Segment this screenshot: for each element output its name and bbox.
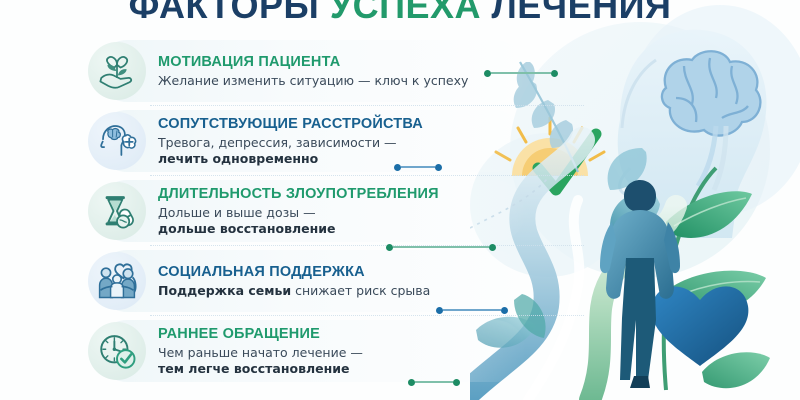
factor-description: Тревога, депрессия, зависимости —лечить … xyxy=(158,135,423,166)
connector-segment xyxy=(415,381,453,383)
connector-segment xyxy=(491,72,551,74)
connector-dot xyxy=(386,244,393,251)
row-separator xyxy=(150,105,584,107)
hourglass-pills-icon xyxy=(88,182,146,240)
factor-row-early-treatment[interactable]: РАННЕЕ ОБРАЩЕНИЕ Чем раньше начато лечен… xyxy=(84,316,514,386)
factor-description: Дольше и выше дозы —дольше восстановлени… xyxy=(158,205,439,236)
factor-row-duration[interactable]: ДЛИТЕЛЬНОСТЬ ЗЛОУПОТРЕБЛЕНИЯ Дольше и вы… xyxy=(84,176,514,246)
factor-description: Чем раньше начато лечение —тем легче вос… xyxy=(158,345,363,376)
connector-dot xyxy=(435,164,442,171)
row-separator xyxy=(150,315,584,317)
family-heart-icon xyxy=(88,252,146,310)
factor-row-motivation[interactable]: МОТИВАЦИЯ ПАЦИЕНТА Желание изменить ситу… xyxy=(84,36,514,106)
factor-texts: СОЦИАЛЬНАЯ ПОДДЕРЖКА Поддержка семьи сни… xyxy=(158,264,430,299)
head-brain-plus-icon xyxy=(88,112,146,170)
title-part-uspeha: УСПЕХА xyxy=(330,0,492,26)
factor-texts: МОТИВАЦИЯ ПАЦИЕНТА Желание изменить ситу… xyxy=(158,54,468,89)
row-separator xyxy=(150,175,584,177)
factor-heading: СОПУТСТВУЮЩИЕ РАССТРОЙСТВА xyxy=(158,116,423,133)
connector-dot xyxy=(436,307,443,314)
connector-line-5 xyxy=(408,377,460,387)
hand-plant-heart-icon xyxy=(88,42,146,100)
factor-texts: ДЛИТЕЛЬНОСТЬ ЗЛОУПОТРЕБЛЕНИЯ Дольше и вы… xyxy=(158,186,439,236)
factor-description: Поддержка семьи снижает риск срыва xyxy=(158,283,430,299)
connector-dot xyxy=(453,379,460,386)
connector-dot xyxy=(484,70,491,77)
title-part-faktory: ФАКТОРЫ xyxy=(129,0,330,26)
connector-line-2 xyxy=(394,162,442,172)
row-separator xyxy=(150,245,584,247)
infographic-canvas: ФАКТОРЫ УСПЕХА ЛЕЧЕНИЯ xyxy=(0,0,800,400)
connector-segment xyxy=(401,166,435,168)
connector-segment xyxy=(443,309,501,311)
connector-line-1 xyxy=(484,68,558,78)
factor-heading: МОТИВАЦИЯ ПАЦИЕНТА xyxy=(158,54,468,71)
connector-line-3 xyxy=(386,242,496,252)
factor-heading: СОЦИАЛЬНАЯ ПОДДЕРЖКА xyxy=(158,264,430,281)
connector-line-4 xyxy=(436,305,508,315)
connector-segment xyxy=(393,246,489,248)
factor-row-comorbid[interactable]: СОПУТСТВУЮЩИЕ РАССТРОЙСТВА Тревога, депр… xyxy=(84,106,514,176)
factor-description: Желание изменить ситуацию — ключ к успех… xyxy=(158,73,468,89)
connector-dot xyxy=(408,379,415,386)
factor-heading: ДЛИТЕЛЬНОСТЬ ЗЛОУПОТРЕБЛЕНИЯ xyxy=(158,186,439,203)
factor-heading: РАННЕЕ ОБРАЩЕНИЕ xyxy=(158,326,363,343)
factor-texts: РАННЕЕ ОБРАЩЕНИЕ Чем раньше начато лечен… xyxy=(158,326,363,376)
factors-list: МОТИВАЦИЯ ПАЦИЕНТА Желание изменить ситу… xyxy=(84,36,514,386)
connector-dot xyxy=(489,244,496,251)
clock-check-icon xyxy=(88,322,146,380)
connector-dot xyxy=(551,70,558,77)
connector-dot xyxy=(501,307,508,314)
connector-dot xyxy=(394,164,401,171)
factor-texts: СОПУТСТВУЮЩИЕ РАССТРОЙСТВА Тревога, депр… xyxy=(158,116,423,166)
